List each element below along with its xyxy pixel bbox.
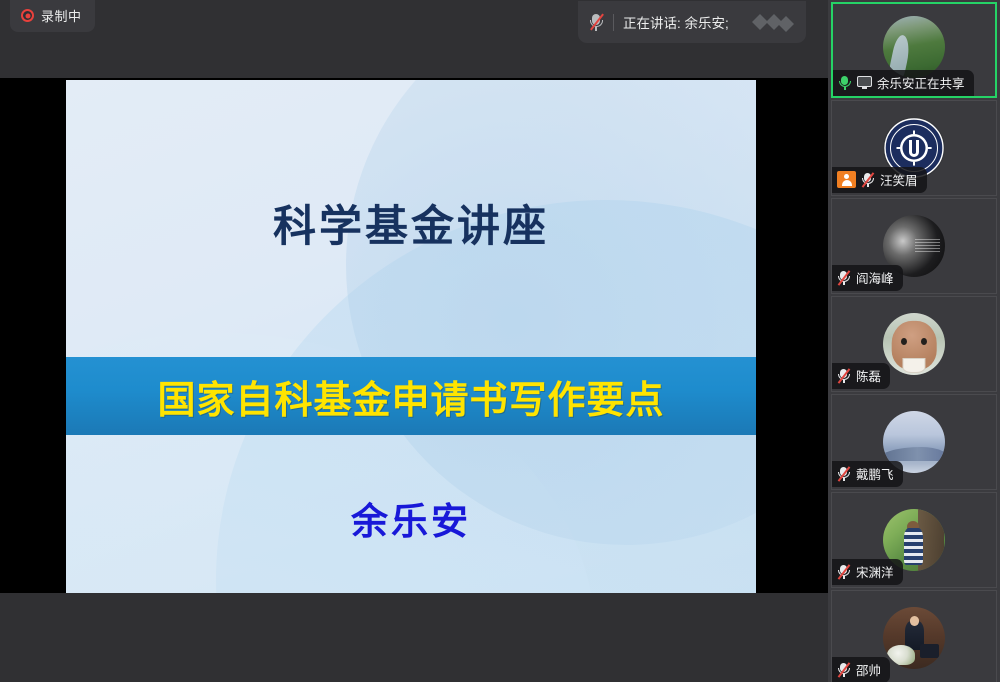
participant-sidebar[interactable]: 余乐安正在共享 [828, 0, 1000, 682]
zoom-logo-icon [748, 10, 800, 34]
participant-namebar: 余乐安正在共享 [833, 70, 974, 96]
host-person-icon [837, 171, 856, 188]
recording-badge[interactable]: 录制中 [10, 0, 95, 32]
top-bar: 录制中 正在讲话: 余乐安; [0, 0, 828, 78]
mic-muted-icon [588, 12, 604, 32]
participant-namebar: 宋渊洋 [832, 559, 903, 585]
participant-tile-shaoshuai[interactable]: 邵帅 [831, 590, 997, 682]
mic-muted-icon [837, 270, 851, 286]
participant-tile-yuleanl[interactable]: 余乐安正在共享 [831, 2, 997, 98]
slide-title: 科学基金讲座 [66, 192, 756, 254]
participant-namebar: 戴鹏飞 [832, 461, 903, 487]
participant-name: 邵帅 [856, 660, 881, 679]
mic-muted-icon [861, 172, 875, 188]
participant-namebar: 陈磊 [832, 363, 890, 389]
participant-namebar: 汪笑眉 [832, 167, 927, 193]
participant-tile-yanhaifeng[interactable]: 阎海峰 [831, 198, 997, 294]
slide-banner-text: 国家自科基金申请书写作要点 [157, 369, 664, 424]
mic-muted-icon [837, 564, 851, 580]
participant-tile-chenlei[interactable]: 陈磊 [831, 296, 997, 392]
participant-namebar: 阎海峰 [832, 265, 903, 291]
podium-speaker-avatar [883, 607, 945, 669]
river-landscape-avatar [883, 16, 945, 78]
shared-screen-stage[interactable]: 科学基金讲座 国家自科基金申请书写作要点 余乐安 四川大学商学院 [0, 78, 828, 593]
participant-name: 汪笑眉 [880, 170, 918, 189]
participant-tile-wangxiaomei[interactable]: 汪笑眉 [831, 100, 997, 196]
divider [613, 14, 614, 31]
zoom-meeting-window: 录制中 正在讲话: 余乐安; 科学基金讲座 [0, 0, 1000, 682]
presentation-slide: 科学基金讲座 国家自科基金申请书写作要点 余乐安 四川大学商学院 [66, 80, 756, 593]
mic-muted-icon [837, 466, 851, 482]
record-dot-icon [21, 9, 34, 22]
cartoon-bear-avatar [883, 313, 945, 375]
participant-name: 戴鹏飞 [856, 464, 894, 483]
participant-name: 宋渊洋 [856, 562, 894, 581]
mic-on-icon [838, 75, 852, 91]
participant-tile-daipengfei[interactable]: 戴鹏飞 [831, 394, 997, 490]
slide-presenter-name: 余乐安 [66, 491, 756, 545]
participant-tile-songyuanyang[interactable]: 宋渊洋 [831, 492, 997, 588]
participant-name: 阎海峰 [856, 268, 894, 287]
recording-label: 录制中 [41, 6, 82, 25]
participant-namebar: 邵帅 [832, 657, 890, 682]
screen-share-icon [857, 76, 872, 89]
participant-name: 陈磊 [856, 366, 881, 385]
slide-banner: 国家自科基金申请书写作要点 [66, 357, 756, 435]
speaking-indicator[interactable]: 正在讲话: 余乐安; [578, 1, 806, 43]
speaking-label: 正在讲话: 余乐安; [623, 12, 729, 32]
participant-name: 余乐安正在共享 [877, 73, 965, 92]
mic-muted-icon [837, 662, 851, 678]
mic-muted-icon [837, 368, 851, 384]
